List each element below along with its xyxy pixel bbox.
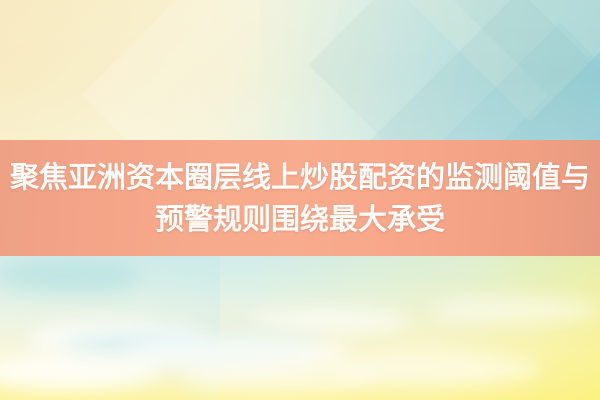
bottom-right-tint xyxy=(260,256,600,400)
banner-headline: 聚焦亚洲资本圈层线上炒股配资的监测阈值与预警规则围绕最大承受 xyxy=(0,156,600,240)
bottom-background-scene xyxy=(0,256,600,400)
top-scene-veil xyxy=(0,0,600,141)
title-banner: 聚焦亚洲资本圈层线上炒股配资的监测阈值与预警规则围绕最大承受 xyxy=(0,140,600,256)
top-background-scene xyxy=(0,0,600,141)
teal-haze xyxy=(60,334,320,360)
cover-image-canvas: 聚焦亚洲资本圈层线上炒股配资的监测阈值与预警规则围绕最大承受 xyxy=(0,0,600,400)
